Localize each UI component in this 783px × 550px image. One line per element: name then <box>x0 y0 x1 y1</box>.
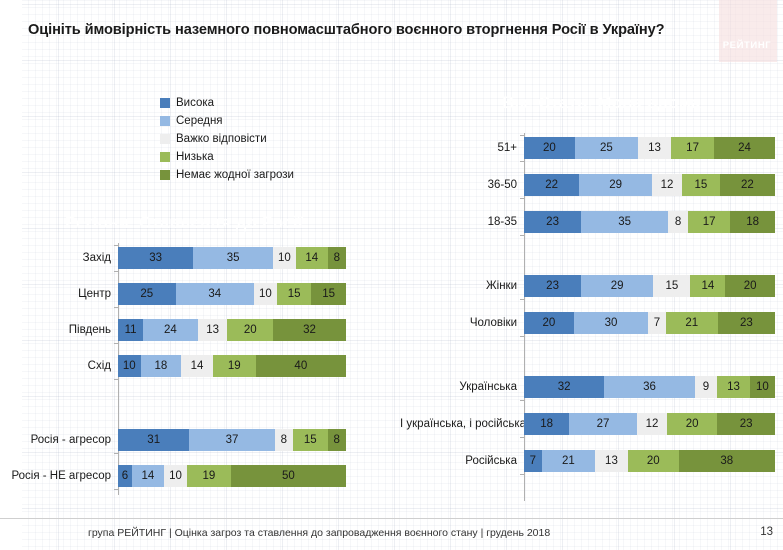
bar-segment-value: 36 <box>604 376 694 398</box>
bar-segment-value: 9 <box>695 376 718 398</box>
bar-segment-value: 14 <box>132 465 164 487</box>
bar-segment-value: 10 <box>750 376 775 398</box>
bar-segment-value: 21 <box>542 450 595 472</box>
chart-row: І українська, і російська1827122023 <box>400 411 783 437</box>
axis-tick <box>114 271 118 272</box>
bar-segment-value: 40 <box>256 355 346 377</box>
chart-row-label: І українська, і російська <box>400 418 524 430</box>
chart-row: 18-35233581718 <box>400 209 783 235</box>
bar-segment-value: 13 <box>638 137 671 159</box>
bar-segment-value: 20 <box>667 413 717 435</box>
bar-segment-value: 7 <box>524 450 542 472</box>
bar-segment-value: 19 <box>187 465 231 487</box>
axis-tick <box>520 437 524 438</box>
bar-segment-value: 15 <box>682 174 720 196</box>
bar-segment-value: 14 <box>181 355 213 377</box>
bar-segment-value: 8 <box>328 247 346 269</box>
chart-row: Російська721132038 <box>400 448 783 474</box>
bar-segment-value: 19 <box>213 355 256 377</box>
footer-divider <box>0 518 783 519</box>
bar-segment-value: 18 <box>141 355 182 377</box>
bar-segment-value: 20 <box>628 450 679 472</box>
chart-row: Центр2534101515 <box>0 281 356 307</box>
axis-tick <box>520 161 524 162</box>
bar-segment-value: 23 <box>524 211 581 233</box>
legend-item: Немає жодної загрози <box>160 166 294 184</box>
legend-item-label: Важко відповісти <box>176 133 267 145</box>
stacked-bar: 31378158 <box>118 429 346 451</box>
axis-tick <box>114 245 118 246</box>
legend-item: Важко відповісти <box>160 130 294 148</box>
axis-tick <box>114 453 118 454</box>
bar-segment-value: 29 <box>579 174 652 196</box>
bar-segment-value: 15 <box>293 429 328 451</box>
bar-segment-value: 20 <box>524 137 575 159</box>
chart-row-label: Росія - агресор <box>0 434 118 446</box>
chart-age-gender-language: 51+202513172436-50222912152218-352335817… <box>400 133 783 508</box>
legend: ВисокаСередняВажко відповістиНизькаНемає… <box>160 94 294 184</box>
bar-segment-value: 24 <box>143 319 198 341</box>
chart-row-label: Південь <box>0 324 118 336</box>
bar-segment-value: 50 <box>231 465 346 487</box>
bar-segment-value: 18 <box>524 413 569 435</box>
rating-logo-watermark <box>719 0 777 62</box>
page-title: Оцініть ймовірність наземного повномасшт… <box>28 22 718 38</box>
chart-row-label: 36-50 <box>400 179 524 191</box>
panel-header-demographics: Вік. Стать. Мова вдома <box>423 90 780 117</box>
bar-segment-value: 12 <box>637 413 667 435</box>
bar-segment-value: 35 <box>581 211 668 233</box>
legend-swatch-icon <box>160 152 170 162</box>
bar-segment-value: 15 <box>311 283 346 305</box>
chart-row-label: Російська <box>400 455 524 467</box>
legend-swatch-icon <box>160 116 170 126</box>
legend-item-label: Висока <box>176 97 214 109</box>
bar-segment-value: 15 <box>653 275 690 297</box>
bar-segment-value: 29 <box>581 275 653 297</box>
legend-item-label: Немає жодної загрози <box>176 169 294 181</box>
chart-row: Захід333510148 <box>0 245 356 271</box>
chart-row: Росія - НЕ агресор614101950 <box>0 463 356 489</box>
chart-row-label: Жінки <box>400 280 524 292</box>
bar-segment-value: 20 <box>725 275 775 297</box>
stacked-bar: 233581718 <box>524 211 775 233</box>
bar-segment-value: 25 <box>575 137 638 159</box>
bar-segment-value: 14 <box>690 275 725 297</box>
bar-segment-value: 25 <box>118 283 176 305</box>
axis-tick <box>520 336 524 337</box>
chart-row: Жінки2329151420 <box>400 273 783 299</box>
legend-item: Висока <box>160 94 294 112</box>
bar-segment-value: 27 <box>569 413 637 435</box>
legend-swatch-icon <box>160 170 170 180</box>
bar-segment-value: 8 <box>668 211 688 233</box>
chart-row-label: Захід <box>0 252 118 264</box>
bar-segment-value: 34 <box>176 283 254 305</box>
stacked-bar: 2329151420 <box>524 275 775 297</box>
bar-segment-value: 23 <box>524 275 581 297</box>
chart-row-label: Схід <box>0 360 118 372</box>
chart-row: 51+2025131724 <box>400 135 783 161</box>
stacked-bar: 2534101515 <box>118 283 346 305</box>
bar-segment-value: 18 <box>730 211 775 233</box>
axis-tick <box>520 235 524 236</box>
stacked-bar: 323691310 <box>524 376 775 398</box>
stacked-bar: 721132038 <box>524 450 775 472</box>
stacked-bar: 203072123 <box>524 312 775 334</box>
chart-row: 36-502229121522 <box>400 172 783 198</box>
bar-segment-value: 13 <box>717 376 750 398</box>
axis-tick <box>520 299 524 300</box>
bar-segment-value: 30 <box>574 312 649 334</box>
stacked-bar: 2025131724 <box>524 137 775 159</box>
bar-segment-value: 15 <box>277 283 312 305</box>
stacked-bar: 614101950 <box>118 465 346 487</box>
bar-segment-value: 37 <box>189 429 274 451</box>
bar-segment-value: 31 <box>118 429 189 451</box>
page-number: 13 <box>760 526 773 538</box>
chart-row: Росія - агресор31378158 <box>0 427 356 453</box>
bar-segment-value: 35 <box>193 247 273 269</box>
legend-swatch-icon <box>160 134 170 144</box>
legend-swatch-icon <box>160 98 170 108</box>
chart-row-label: Чоловіки <box>400 317 524 329</box>
bar-segment-value: 21 <box>666 312 718 334</box>
bar-segment-value: 10 <box>273 247 296 269</box>
axis-tick <box>114 379 118 380</box>
chart-row: Українська323691310 <box>400 374 783 400</box>
chart-row-label: 51+ <box>400 142 524 154</box>
bar-segment-value: 12 <box>652 174 682 196</box>
legend-item: Низька <box>160 148 294 166</box>
bar-segment-value: 11 <box>118 319 143 341</box>
footer-source: група РЕЙТИНГ | Оцінка загроз та ставлен… <box>88 527 550 539</box>
bar-segment-value: 32 <box>524 376 604 398</box>
bar-segment-value: 33 <box>118 247 193 269</box>
chart-row-label: Центр <box>0 288 118 300</box>
bar-segment-value: 23 <box>717 413 775 435</box>
chart-row-label: Росія - НЕ агресор <box>0 470 118 482</box>
chart-regions-attitude: Захід333510148Центр2534101515Південь1124… <box>0 243 356 503</box>
axis-tick <box>520 198 524 199</box>
bar-segment-value: 8 <box>275 429 293 451</box>
legend-item: Середня <box>160 112 294 130</box>
axis-tick <box>114 307 118 308</box>
stacked-bar: 333510148 <box>118 247 346 269</box>
stacked-bar: 1018141940 <box>118 355 346 377</box>
stacked-bar: 1124132032 <box>118 319 346 341</box>
bar-segment-value: 14 <box>296 247 328 269</box>
bar-segment-value: 8 <box>328 429 346 451</box>
bar-segment-value: 38 <box>679 450 775 472</box>
chart-row-label: 18-35 <box>400 216 524 228</box>
bar-segment-value: 32 <box>273 319 346 341</box>
chart-row-label: Українська <box>400 381 524 393</box>
stacked-bar: 1827122023 <box>524 413 775 435</box>
bar-segment-value: 13 <box>595 450 628 472</box>
panel-header-regions: Регіони. Ставлення до Росії <box>18 210 350 237</box>
bar-segment-value: 23 <box>718 312 775 334</box>
legend-item-label: Середня <box>176 115 223 127</box>
bar-segment-value: 24 <box>714 137 775 159</box>
bar-segment-value: 13 <box>198 319 228 341</box>
axis-tick <box>114 343 118 344</box>
bar-segment-value: 22 <box>720 174 775 196</box>
axis-tick <box>520 474 524 475</box>
bar-segment-value: 20 <box>227 319 273 341</box>
legend-item-label: Низька <box>176 151 214 163</box>
axis-tick <box>114 489 118 490</box>
bar-segment-value: 6 <box>118 465 132 487</box>
bar-segment-value: 10 <box>254 283 277 305</box>
axis-tick <box>520 400 524 401</box>
stacked-bar: 2229121522 <box>524 174 775 196</box>
bar-segment-value: 10 <box>118 355 141 377</box>
bar-segment-value: 10 <box>164 465 187 487</box>
bar-segment-value: 22 <box>524 174 579 196</box>
bar-segment-value: 17 <box>671 137 714 159</box>
bar-segment-value: 17 <box>688 211 730 233</box>
bar-segment-value: 20 <box>524 312 574 334</box>
rating-logo-text: РЕЙТИНГ <box>719 40 775 51</box>
axis-tick <box>520 135 524 136</box>
chart-row: Чоловіки203072123 <box>400 310 783 336</box>
chart-row: Південь1124132032 <box>0 317 356 343</box>
chart-row: Схід1018141940 <box>0 353 356 379</box>
bar-segment-value: 7 <box>648 312 665 334</box>
